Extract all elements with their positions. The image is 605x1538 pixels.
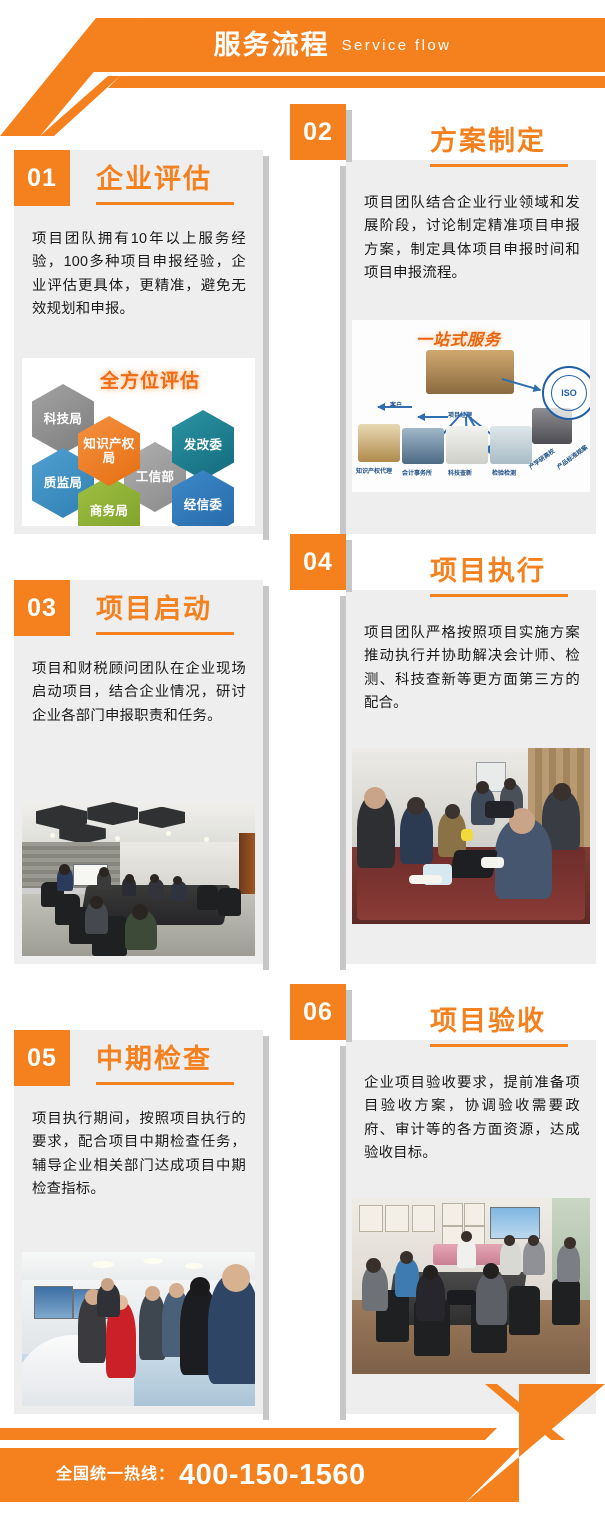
card-02-text: 项目团队结合企业行业领域和发展阶段，讨论制定精准项目申报方案，制定具体项目申报时… xyxy=(364,192,580,285)
card-04-photo xyxy=(352,748,590,924)
figure-title: 全方位评估 xyxy=(100,366,200,393)
card-02[interactable]: 02 方案制定 项目团队结合企业行业领域和发展阶段，讨论制定精准项目申报方案，制… xyxy=(290,104,596,534)
seal-inner-text: ISO xyxy=(551,375,587,411)
card-05-title-rule xyxy=(96,1082,234,1085)
svc-node-accounting xyxy=(402,428,444,464)
svc-arrow-2 xyxy=(418,416,448,418)
card-02-badge-stem xyxy=(346,110,352,162)
card-05-photo xyxy=(22,1252,255,1406)
svc-node-standard-seal: ISO xyxy=(542,366,590,420)
card-03[interactable]: 03 项目启动 项目和财税顾问团队在企业现场启动项目，结合企业情况，研讨企业各部… xyxy=(14,580,263,964)
card-06-number-badge: 06 xyxy=(290,984,346,1040)
hotline-label: 全国统一热线： xyxy=(56,1467,175,1483)
card-01[interactable]: 01 企业评估 项目团队拥有10年以上服务经验，100多种项目申报经验，企业评估… xyxy=(14,150,263,534)
svc-label-standard: 产品标准规案 xyxy=(555,443,589,471)
photo-scene-showroom-visit xyxy=(22,1252,255,1406)
card-02-figure: 一站式服务 客户 项目经理 ISO 知识产权代理 xyxy=(352,320,590,492)
footer-stripe xyxy=(0,1428,605,1440)
card-01-title-rule xyxy=(96,202,234,205)
card-04[interactable]: 04 项目执行 项目团队严格按照项目实施方案推动执行并协助解决会计师、检测、科技… xyxy=(290,534,596,964)
card-01-figure: 全方位评估 科技局 知识产权局 质监局 工信部 发改委 商务局 xyxy=(22,358,255,526)
footer-hotline-group: 全国统一热线： 400-150-1560 xyxy=(0,1448,605,1502)
card-03-title: 项目启动 xyxy=(96,596,212,623)
hotline-number[interactable]: 400-150-1560 xyxy=(179,1461,366,1490)
card-03-number-badge: 03 xyxy=(14,580,70,636)
card-04-number-badge: 04 xyxy=(290,534,346,590)
card-05[interactable]: 05 中期检查 项目执行期间，按照项目执行的要求，配合项目中期检查任务，辅导企业… xyxy=(14,1030,263,1414)
photo-scene-office-worksession xyxy=(352,748,590,924)
card-06[interactable]: 06 项目验收 企业项目验收要求，提前准备项目验收方案，协调验收需要政府、审计等… xyxy=(290,984,596,1414)
card-01-text: 项目团队拥有10年以上服务经验，100多种项目申报经验，企业评估更具体，更精准，… xyxy=(32,228,246,321)
page-footer: 全国统一热线： 400-150-1560 xyxy=(0,1406,605,1502)
svc-label-ip: 知识产权代理 xyxy=(356,466,392,475)
card-02-title: 方案制定 xyxy=(430,128,546,155)
figure-title: 一站式服务 xyxy=(416,326,501,350)
svc-node-testing xyxy=(490,426,532,464)
svc-arrow-1 xyxy=(378,406,412,408)
card-06-title-rule xyxy=(430,1044,568,1047)
card-06-title: 项目验收 xyxy=(430,1008,546,1035)
card-05-title: 中期检查 xyxy=(96,1046,212,1073)
card-06-badge-stem xyxy=(346,990,352,1042)
card-02-title-rule xyxy=(430,164,568,167)
card-01-number-badge: 01 xyxy=(14,150,70,206)
card-04-title: 项目执行 xyxy=(430,558,546,585)
svc-label-accounting: 会计事务所 xyxy=(402,468,432,477)
card-03-photo xyxy=(22,802,255,956)
svc-label-search: 科技查新 xyxy=(448,468,472,477)
card-03-title-rule xyxy=(96,632,234,635)
card-05-number-badge: 05 xyxy=(14,1030,70,1086)
svc-node-ip xyxy=(358,424,400,462)
card-05-text: 项目执行期间，按照项目执行的要求，配合项目中期检查任务，辅导企业相关部门达成项目… xyxy=(32,1108,246,1201)
service-flow-infographic: 服务流程 Service flow 01 企业评估 项目团队拥有10年以上服务经… xyxy=(0,0,605,1538)
card-04-badge-stem xyxy=(346,540,352,592)
photo-scene-conference-room xyxy=(22,802,255,956)
card-04-title-rule xyxy=(430,594,568,597)
card-06-text: 企业项目验收要求，提前准备项目验收方案，协调验收需要政府、审计等的各方面资源，达… xyxy=(364,1072,580,1165)
card-06-photo xyxy=(352,1198,590,1374)
svc-center-photo xyxy=(426,350,514,394)
card-04-text: 项目团队严格按照项目实施方案推动执行并协助解决会计师、检测、科技查新等更方面第三… xyxy=(364,622,580,715)
card-03-text: 项目和财税顾问团队在企业现场启动项目，结合企业情况，研讨企业各部门申报职责和任务… xyxy=(32,658,246,728)
svc-node-search xyxy=(446,426,488,464)
cards-grid: 01 企业评估 项目团队拥有10年以上服务经验，100多种项目申报经验，企业评估… xyxy=(0,0,605,1538)
photo-scene-boardroom-acceptance xyxy=(352,1198,590,1374)
card-01-title: 企业评估 xyxy=(96,166,212,193)
card-02-number-badge: 02 xyxy=(290,104,346,160)
svc-label-testing: 检验检测 xyxy=(492,468,516,477)
